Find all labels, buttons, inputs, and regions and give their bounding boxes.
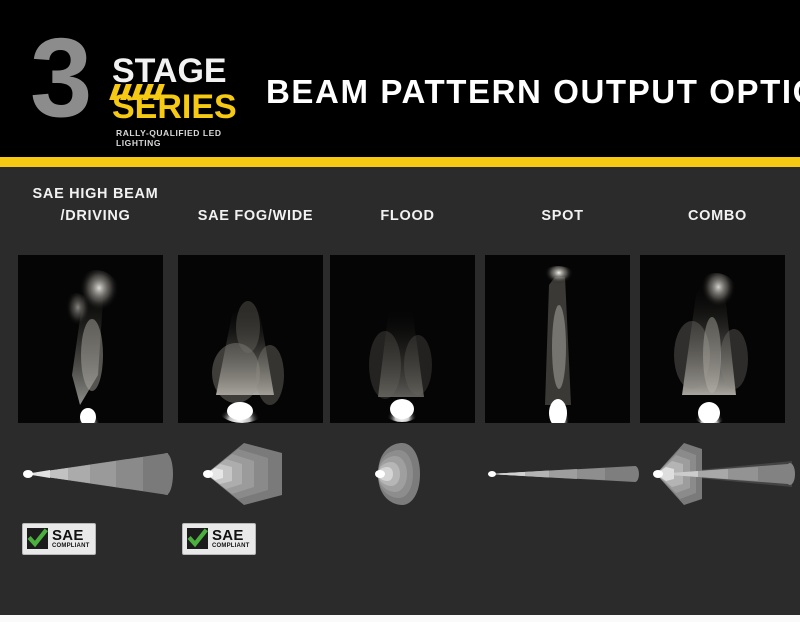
beam-photo-spot [485,255,630,423]
column-combo: COMBO [640,167,795,615]
badge-subtitle: COMPLIANT [212,543,249,550]
beam-photo-sae-high-beam-driving [18,255,163,423]
beam-pattern-infographic: 3 STAGE SERIES RALLY-QUALIFIED LED LIGHT… [0,0,800,622]
column-title-line1: SAE HIGH BEAM [18,183,173,205]
logo-numeral: 3 [30,28,86,128]
check-icon [187,528,208,549]
column-sae-high-beam-driving: SAE HIGH BEAM /DRIVING [18,167,173,615]
beam-diagram-flood [330,439,485,509]
column-title-line1: FLOOD [330,205,485,227]
yellow-divider [0,157,800,167]
column-flood: FLOOD [330,167,485,615]
stage-series-logo: 3 STAGE SERIES RALLY-QUALIFIED LED LIGHT… [30,28,245,133]
column-title: SAE HIGH BEAM /DRIVING [18,183,173,227]
column-spot: SPOT [485,167,640,615]
header-bar: 3 STAGE SERIES RALLY-QUALIFIED LED LIGHT… [0,0,800,157]
column-title-line1: SAE FOG/WIDE [178,205,333,227]
column-title-line1: SPOT [485,205,640,227]
logo-word-series: SERIES [112,90,237,124]
column-title-line1: COMBO [640,205,795,227]
beam-photo-flood [330,255,475,423]
beam-diagram-sae-high-beam-driving [18,439,173,509]
logo-word-stage: STAGE [112,54,227,88]
beam-photo-sae-fog-wide [178,255,323,423]
beam-diagram-spot [485,439,640,509]
column-title: SPOT [485,205,640,227]
badge-subtitle: COMPLIANT [52,543,89,550]
beam-diagram-combo [640,439,795,509]
column-title: FLOOD [330,205,485,227]
columns-container: SAE HIGH BEAM /DRIVING [0,167,800,615]
beam-diagram-sae-fog-wide [178,439,333,509]
sae-compliant-badge: SAE COMPLIANT [182,523,256,555]
beam-photo-combo [640,255,785,423]
check-icon [27,528,48,549]
sae-compliant-badge: SAE COMPLIANT [22,523,96,555]
column-title-line2: /DRIVING [18,205,173,227]
badge-title: SAE [52,528,84,543]
column-title: COMBO [640,205,795,227]
badge-title: SAE [212,528,244,543]
column-title: SAE FOG/WIDE [178,205,333,227]
logo-tagline: RALLY-QUALIFIED LED LIGHTING [116,128,245,148]
column-sae-fog-wide: SAE FOG/WIDE [178,167,333,615]
bottom-edge [0,615,800,622]
page-title: BEAM PATTERN OUTPUT OPTIONS [266,74,800,110]
